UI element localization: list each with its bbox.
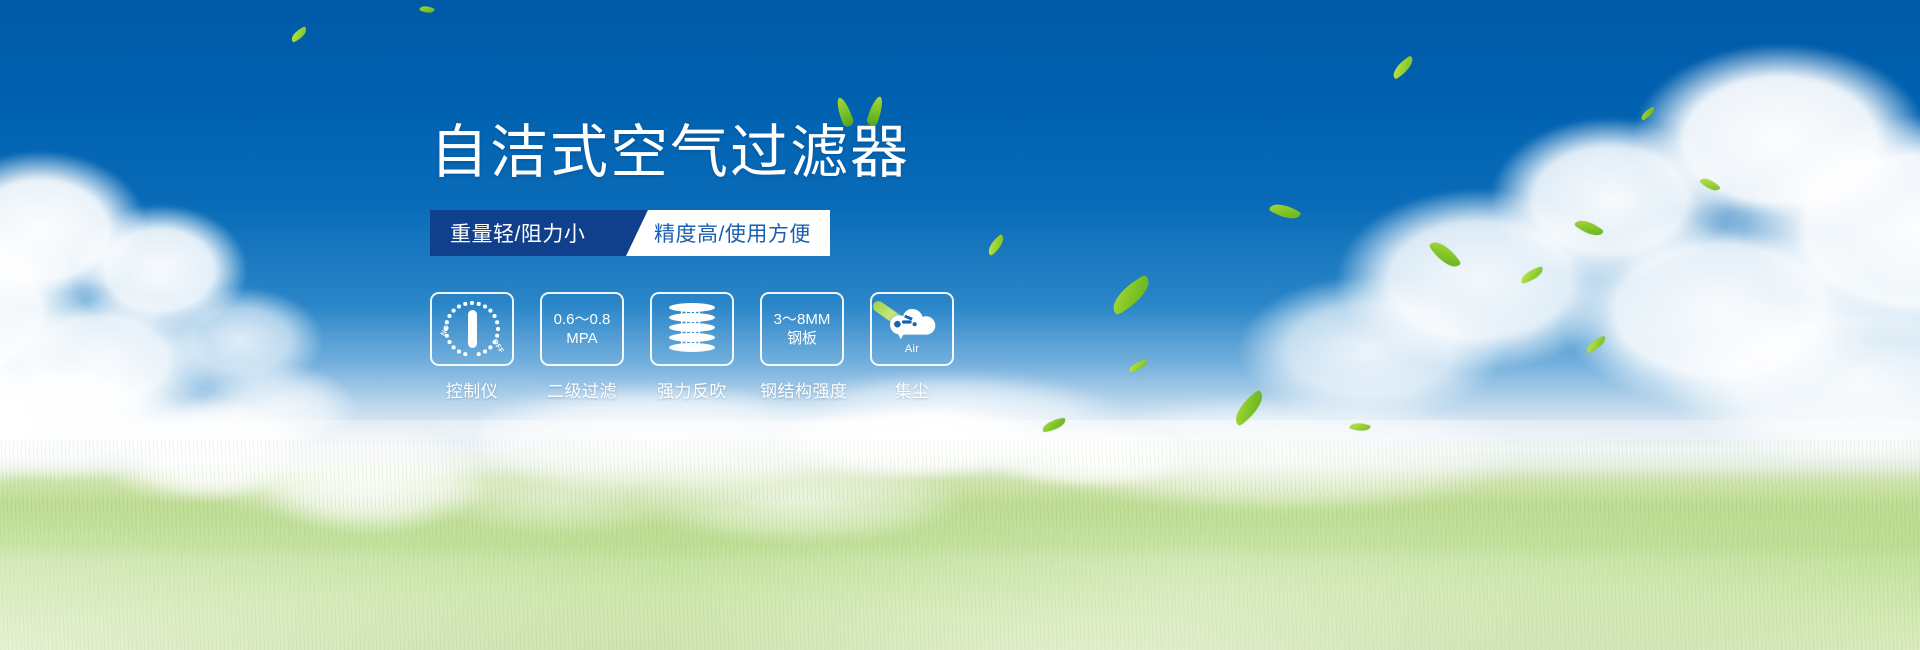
feature-icon-box: Air bbox=[870, 292, 954, 366]
floating-leaf bbox=[1349, 421, 1370, 434]
air-cloud-icon: Air bbox=[883, 306, 941, 352]
feature-icon-box bbox=[650, 292, 734, 366]
feature-list: NO OFF 控制仪 0.6～0.8 MPA 二级过滤 bbox=[430, 292, 1070, 402]
feature-item-dust[interactable]: Air 集尘 bbox=[870, 292, 954, 402]
feature-item-controller[interactable]: NO OFF 控制仪 bbox=[430, 292, 514, 402]
feature-item-backblow[interactable]: 强力反吹 bbox=[650, 292, 734, 402]
feature-label: 二级过滤 bbox=[540, 377, 624, 402]
floating-leaf bbox=[1106, 274, 1156, 315]
feature-icon-box: NO OFF bbox=[430, 292, 514, 366]
feature-label: 控制仪 bbox=[430, 377, 514, 402]
pressure-value-line2: MPA bbox=[566, 329, 597, 348]
pressure-value-line1: 0.6～0.8 bbox=[554, 310, 611, 329]
feature-icon-box: 0.6～0.8 MPA bbox=[540, 292, 624, 366]
feature-label: 钢结构强度 bbox=[760, 377, 844, 402]
product-banner: 自洁式空气过滤器 重量轻/阻力小 精度高/使用方便 bbox=[0, 0, 1920, 650]
floating-leaf bbox=[1584, 336, 1608, 354]
floating-leaf bbox=[1639, 106, 1656, 120]
banner-content: 自洁式空气过滤器 重量轻/阻力小 精度高/使用方便 bbox=[430, 120, 1070, 402]
steel-value-line1: 3～8MM bbox=[774, 310, 831, 329]
tagline-group: 重量轻/阻力小 精度高/使用方便 bbox=[430, 210, 830, 256]
floating-leaf bbox=[419, 4, 435, 16]
page-title: 自洁式空气过滤器 bbox=[430, 120, 1070, 186]
feature-item-steel[interactable]: 3～8MM 钢板 钢结构强度 bbox=[760, 292, 844, 402]
grass-hills bbox=[0, 420, 1920, 650]
floating-leaf bbox=[1229, 390, 1268, 427]
cloud-shape bbox=[883, 308, 941, 344]
title-block: 自洁式空气过滤器 bbox=[430, 120, 1070, 192]
filter-cartridge-icon bbox=[667, 303, 717, 355]
floating-leaf bbox=[1127, 359, 1148, 373]
gauge-icon: NO OFF bbox=[441, 299, 503, 359]
gauge-needle-icon bbox=[468, 310, 477, 348]
feature-label: 集尘 bbox=[870, 377, 954, 402]
cloud-right-cumulus bbox=[1220, 30, 1920, 460]
grass-texture bbox=[0, 440, 1920, 650]
tagline-primary: 重量轻/阻力小 bbox=[430, 210, 648, 256]
cloud-haze-left bbox=[180, 420, 700, 550]
feature-icon-box: 3～8MM 钢板 bbox=[760, 292, 844, 366]
feature-item-pressure[interactable]: 0.6～0.8 MPA 二级过滤 bbox=[540, 292, 624, 402]
tagline-secondary: 精度高/使用方便 bbox=[626, 210, 830, 256]
grass-path bbox=[0, 500, 1920, 650]
feature-label: 强力反吹 bbox=[650, 377, 734, 402]
air-label: Air bbox=[883, 343, 941, 355]
floating-leaf bbox=[289, 26, 309, 42]
floating-leaf bbox=[1269, 199, 1302, 225]
floating-leaf bbox=[1389, 55, 1417, 79]
cloud-horizon-puff bbox=[760, 392, 1320, 512]
floating-leaf bbox=[1574, 215, 1604, 241]
floating-leaf bbox=[1699, 175, 1720, 195]
steel-value-line2: 钢板 bbox=[787, 329, 817, 348]
floating-leaf bbox=[1429, 236, 1462, 272]
floating-leaf bbox=[1041, 418, 1067, 433]
floating-leaf bbox=[1519, 266, 1545, 284]
